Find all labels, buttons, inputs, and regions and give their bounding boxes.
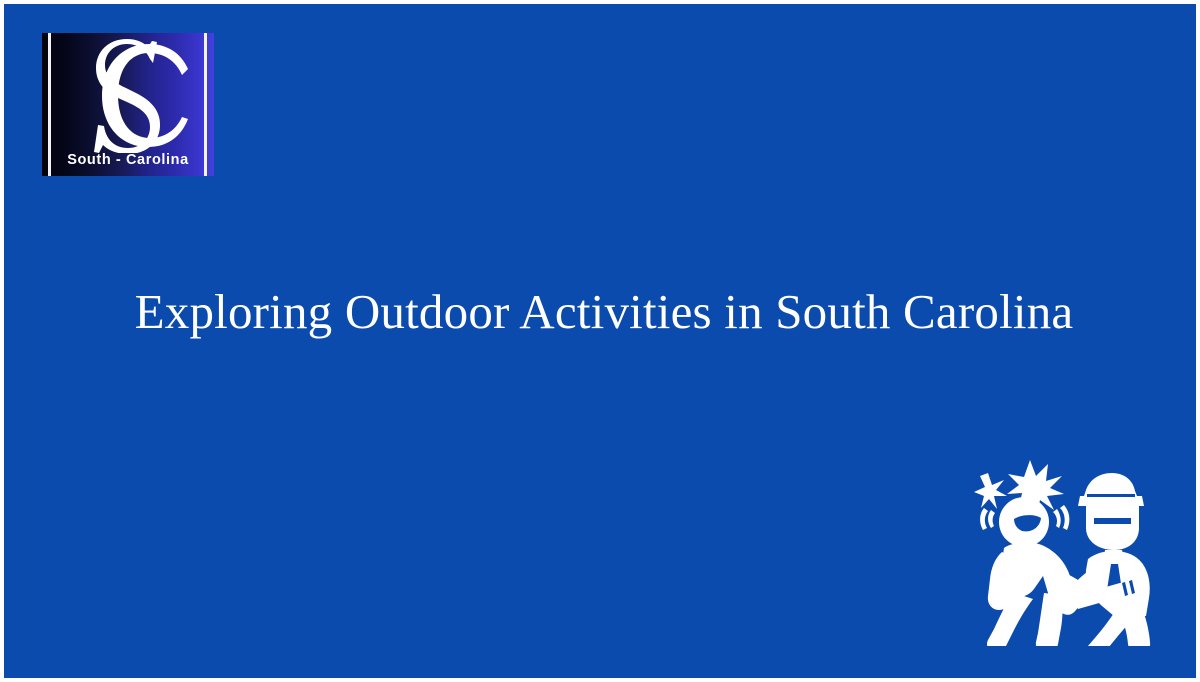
police-arrest-pictogram-icon xyxy=(974,456,1160,646)
south-carolina-logo: South - Carolina xyxy=(42,33,214,176)
logo-caption: South - Carolina xyxy=(42,152,214,168)
page-title: Exploring Outdoor Activities in South Ca… xyxy=(124,270,1084,354)
sc-monogram-icon xyxy=(42,35,214,151)
slide-canvas: South - Carolina Exploring Outdoor Activ… xyxy=(0,0,1200,682)
